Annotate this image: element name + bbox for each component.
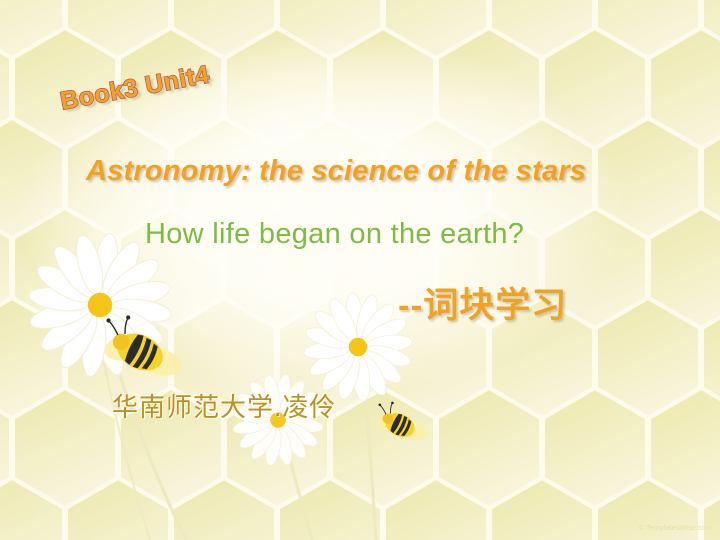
bee-small [376,402,429,443]
subtitle-english: How life began on the earth? [145,218,524,251]
slide-title: Astronomy: the science of the stars [86,155,586,188]
subtitle-chinese: --词块学习 [398,277,567,328]
template-watermark: © TemplatesWise.com [639,525,712,532]
presentation-slide: Book3 Unit4 Astronomy: the science of th… [0,0,720,540]
author-affiliation: 华南师范大学.凌伶 [112,387,336,424]
